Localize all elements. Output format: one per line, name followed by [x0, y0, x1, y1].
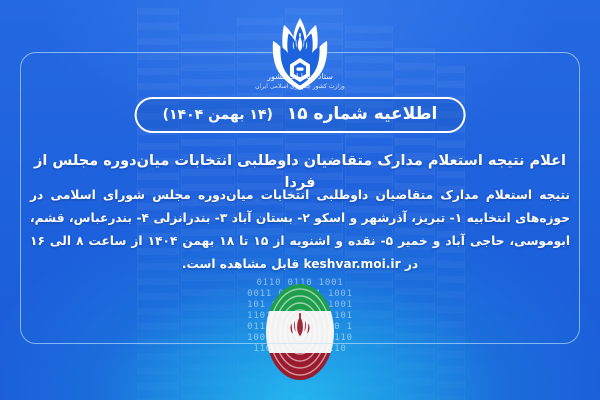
body-line-4: مشاهده است.: [182, 257, 267, 271]
fingerprint-flag-icon: [252, 270, 348, 394]
emblem-title: ستاد انتخابات کشور: [267, 72, 333, 81]
badge-date: (۱۴ بهمن ۱۴۰۴): [163, 107, 273, 123]
announcement-number-badge: اطلاعیه شماره ۱۵ (۱۴ بهمن ۱۴۰۴): [135, 97, 466, 133]
announcement-body: نتیجه استعلام مدارک متقاضیان داوطلبی انت…: [30, 184, 570, 276]
emblem-subtitle: وزارت کشور جمهوری اسلامی ایران: [230, 82, 370, 92]
keshvar-moi-ir-link[interactable]: keshvar.moi.ir: [304, 253, 401, 276]
emblem-caption: ستاد انتخابات کشور وزارت کشور جمهوری اسل…: [230, 72, 370, 92]
body-line-3-after-url: قابل: [271, 257, 299, 271]
announcement-poster: 0110 0110 1001 0011 0110 01 1001 101 0 1…: [0, 0, 600, 400]
badge-label: اطلاعیه شماره ۱۵: [287, 104, 438, 124]
